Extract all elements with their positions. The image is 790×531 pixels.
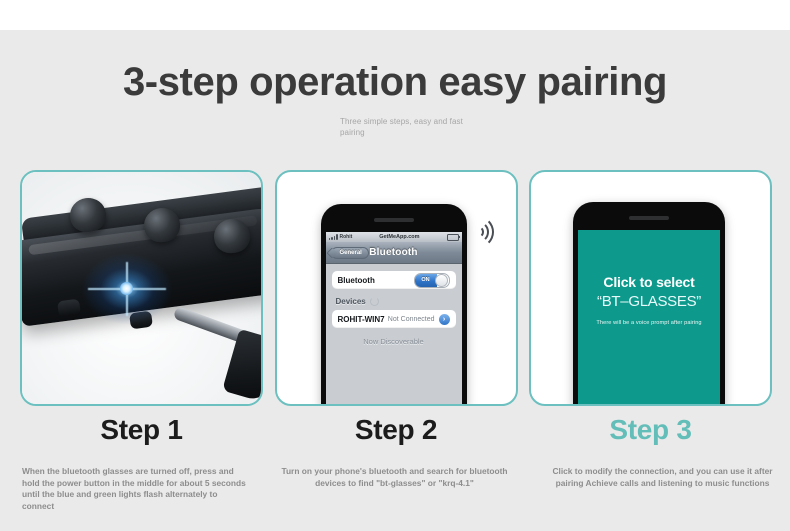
step-labels: Step 1 Step 2 Step 3 bbox=[20, 414, 772, 446]
loading-spinner-icon bbox=[370, 297, 379, 306]
wireless-waves-icon bbox=[472, 210, 502, 250]
device-tip bbox=[222, 329, 263, 403]
phone-mockup-teal: Click to select “BT–GLASSES” There will … bbox=[573, 202, 725, 406]
step-caption-2: Turn on your phone's bluetooth and searc… bbox=[263, 466, 526, 512]
toggle-state-label: ON bbox=[421, 277, 429, 283]
devices-section-header: Devices bbox=[336, 297, 456, 306]
phone-screen-teal: Click to select “BT–GLASSES” There will … bbox=[578, 230, 720, 406]
bluetooth-toggle[interactable]: ON bbox=[414, 273, 450, 288]
nav-title: Bluetooth bbox=[326, 247, 462, 258]
ios-nav-bar: General Bluetooth bbox=[326, 242, 462, 264]
led-core-icon bbox=[120, 282, 133, 295]
step-label-3: Step 3 bbox=[529, 414, 772, 446]
discoverable-label: Now Discoverable bbox=[332, 337, 456, 346]
step-card-1 bbox=[20, 170, 263, 406]
phone-speaker bbox=[629, 216, 669, 220]
ios-status-bar: Rohit GetMeApp.com bbox=[326, 232, 462, 242]
phone-mockup-ios: Rohit GetMeApp.com General Bluetooth bbox=[321, 204, 467, 406]
bluetooth-toggle-row[interactable]: Bluetooth ON bbox=[332, 271, 456, 289]
ios-settings-body: Bluetooth ON Devices bbox=[326, 264, 462, 353]
promo-page: 3-step operation easy pairing Three simp… bbox=[0, 0, 790, 531]
step-card-2: Rohit GetMeApp.com General Bluetooth bbox=[275, 170, 518, 406]
device-clip bbox=[129, 311, 153, 330]
teal-prompt-line1: Click to select bbox=[603, 274, 694, 291]
step-label-2: Step 2 bbox=[275, 414, 518, 446]
device-name-label: ROHIT-WIN7 bbox=[338, 315, 385, 324]
bluetooth-label: Bluetooth bbox=[338, 276, 375, 285]
page-title: 3-step operation easy pairing bbox=[0, 58, 790, 106]
step-label-1: Step 1 bbox=[20, 414, 263, 446]
battery-icon bbox=[447, 234, 459, 241]
site-label: GetMeApp.com bbox=[379, 234, 419, 240]
header: 3-step operation easy pairing Three simp… bbox=[0, 58, 790, 138]
device-status-label: Not Connected bbox=[388, 316, 435, 323]
page-subtitle: Three simple steps, easy and fast pairin… bbox=[340, 116, 470, 138]
device-row[interactable]: ROHIT-WIN7 Not Connected › bbox=[332, 310, 456, 328]
step-caption-1: When the bluetooth glasses are turned of… bbox=[0, 466, 263, 512]
step-cards: Rohit GetMeApp.com General Bluetooth bbox=[20, 170, 772, 406]
phone-speaker bbox=[374, 218, 414, 222]
toggle-knob[interactable] bbox=[435, 274, 448, 287]
signal-bars-icon bbox=[329, 234, 338, 240]
bluetooth-glasses-photo bbox=[22, 172, 261, 404]
chevron-right-icon[interactable]: › bbox=[439, 314, 450, 325]
step-card-3: Click to select “BT–GLASSES” There will … bbox=[529, 170, 772, 406]
carrier-label: Rohit bbox=[340, 234, 353, 240]
devices-label: Devices bbox=[336, 297, 366, 306]
phone-screen-ios: Rohit GetMeApp.com General Bluetooth bbox=[326, 232, 462, 406]
step-captions: When the bluetooth glasses are turned of… bbox=[0, 466, 790, 512]
teal-prompt-note: There will be a voice prompt after pairi… bbox=[596, 320, 701, 326]
teal-prompt-line2: “BT–GLASSES” bbox=[597, 292, 701, 311]
step-caption-3: Click to modify the connection, and you … bbox=[526, 466, 789, 512]
